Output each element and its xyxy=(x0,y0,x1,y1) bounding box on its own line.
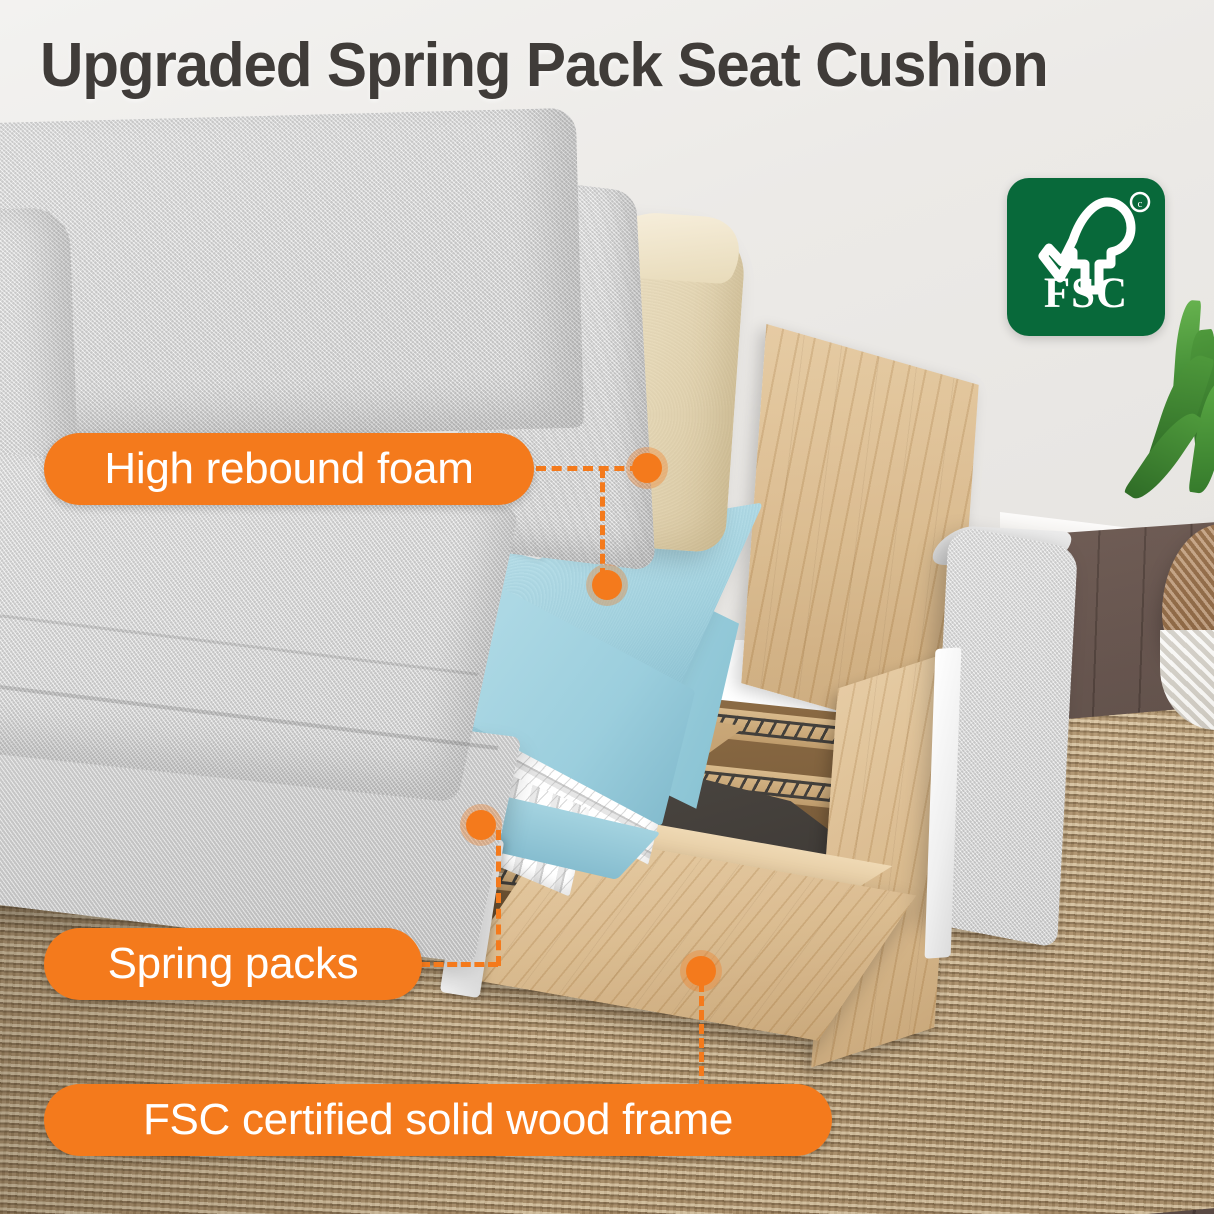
connector-line-spring-vertical xyxy=(496,830,501,966)
connector-line-wood xyxy=(699,968,704,1090)
callout-fsc-certified-solid-wood-frame[interactable]: FSC certified solid wood frame xyxy=(44,1084,832,1156)
fsc-certification-badge: c FSC xyxy=(1007,178,1165,336)
fsc-label: FSC xyxy=(1007,269,1165,318)
callout-label: FSC certified solid wood frame xyxy=(143,1095,733,1145)
page-title: Upgraded Spring Pack Seat Cushion xyxy=(40,34,1156,97)
svg-text:c: c xyxy=(1138,198,1143,210)
connector-line-foam xyxy=(536,466,640,471)
connector-line-spring-horizontal xyxy=(420,962,498,967)
product-infographic: Upgraded Spring Pack Seat Cushion c FSC … xyxy=(0,0,1214,1214)
callout-dot-spring-packs[interactable] xyxy=(466,810,496,840)
callout-high-rebound-foam[interactable]: High rebound foam xyxy=(44,433,534,505)
callout-label: High rebound foam xyxy=(104,444,473,494)
callout-spring-packs[interactable]: Spring packs xyxy=(44,928,422,1000)
callout-dot-wood-frame[interactable] xyxy=(686,956,716,986)
callout-label: Spring packs xyxy=(108,939,359,989)
callout-dot-blue-foam[interactable] xyxy=(592,570,622,600)
callout-dot-high-rebound-foam[interactable] xyxy=(632,453,662,483)
connector-line-blue-foam xyxy=(600,468,605,578)
sofa-back-cushion xyxy=(0,108,584,445)
